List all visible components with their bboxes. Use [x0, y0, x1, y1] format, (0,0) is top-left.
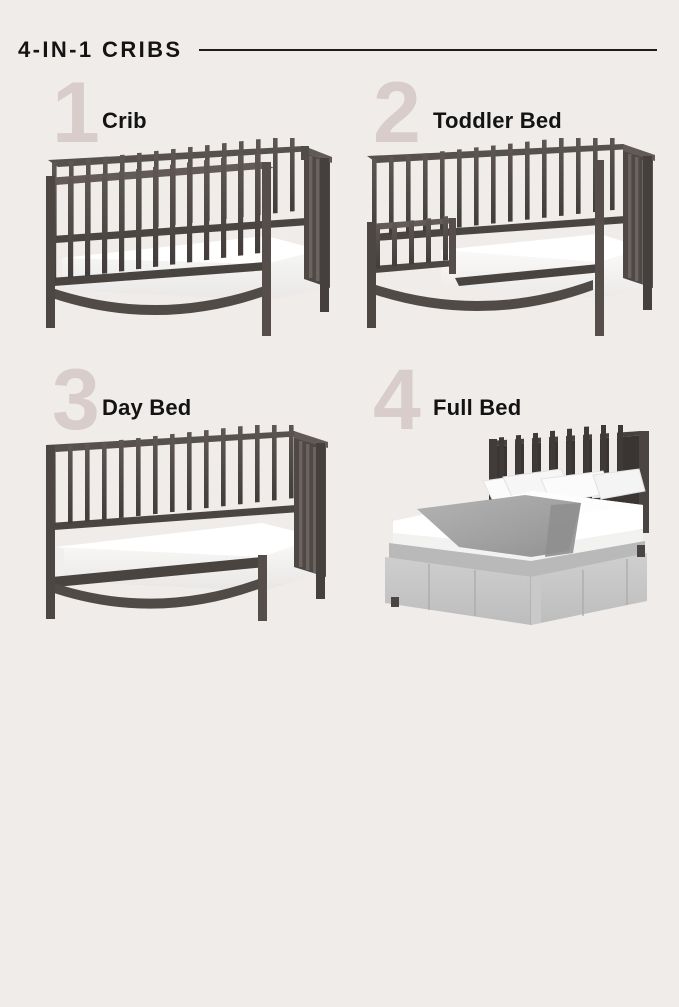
panel-crib-label: Crib: [102, 108, 147, 134]
full-bed-illustration: [355, 425, 675, 635]
page-header: 4-IN-1 CRIBS: [18, 32, 663, 68]
panel-day-bed-label: Day Bed: [102, 395, 191, 421]
panel-toddler-bed-label: Toddler Bed: [433, 108, 562, 134]
panel-crib: 1 Crib: [30, 78, 350, 368]
panel-full-bed: 4 Full Bed: [355, 365, 675, 665]
header-divider: [199, 49, 658, 51]
panel-day-bed: 3 Day Bed: [30, 365, 350, 665]
day-bed-illustration: [30, 425, 350, 635]
panel-toddler-bed: 2 Toddler Bed: [355, 78, 675, 368]
infographic-page: 4-IN-1 CRIBS 1 Crib: [0, 0, 679, 679]
toddler-bed-illustration: [355, 138, 675, 348]
panel-full-bed-label: Full Bed: [433, 395, 521, 421]
page-title: 4-IN-1 CRIBS: [18, 39, 183, 61]
crib-illustration: [30, 138, 350, 348]
